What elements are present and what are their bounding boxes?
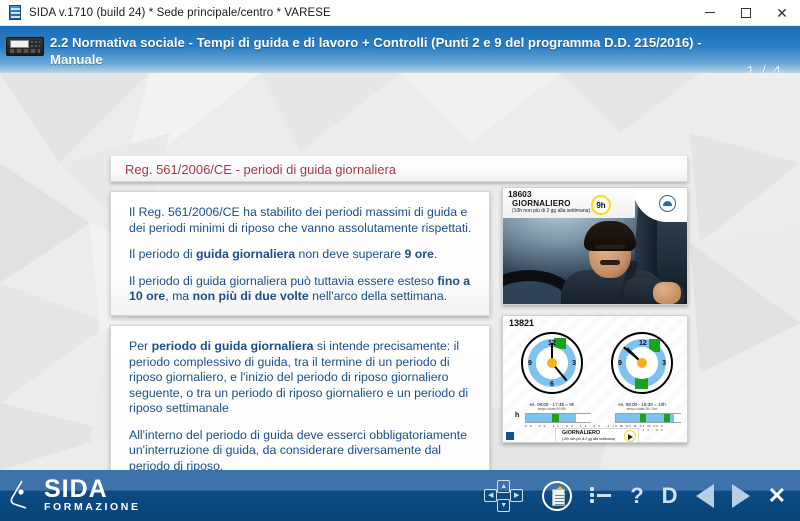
slide-title: Reg. 561/2006/CE - periodi di guida gior…	[125, 162, 396, 177]
paragraph-5: All'interno del periodo di guida deve es…	[129, 428, 473, 471]
navigation-dpad[interactable]: ▲ ◀ ▶ ▼	[484, 480, 524, 512]
photo-label-chip: 18603 GIORNALIERO (10h non più di 2 gg a…	[503, 188, 635, 218]
paragraph-2: Il periodo di guida giornaliera non deve…	[129, 247, 473, 263]
clock-right-caption: es. 08:00 - 19:30 = 10h tempo totale:11h…	[599, 402, 685, 411]
app-icon	[7, 5, 23, 20]
slide-canvas: TACHIGRAFO - MANUALE Reg. 561/2006/CE - …	[0, 73, 800, 470]
window-titlebar: SIDA v.1710 (build 24) * Sede principale…	[0, 0, 800, 26]
clock-figure-number: 13821	[509, 318, 534, 328]
rest-icon: h	[515, 412, 519, 419]
paragraph-3: Il periodo di guida giornaliera può tutt…	[129, 274, 473, 305]
minimize-button[interactable]	[692, 0, 728, 26]
previous-button[interactable]	[696, 484, 714, 508]
clock-label-chip: GIORNALIERO (10h non più di 2 gg alla se…	[555, 428, 639, 442]
paragraph-1: Il Reg. 561/2006/CE ha stabilito dei per…	[129, 205, 473, 236]
arrow-right-icon	[732, 484, 750, 508]
dpad-right-icon[interactable]: ▶	[510, 489, 523, 502]
document-button[interactable]	[542, 481, 572, 511]
window-close-button[interactable]: ✕	[764, 0, 800, 26]
clock-label: GIORNALIERO	[562, 430, 600, 436]
index-list-button[interactable]	[590, 486, 612, 506]
paragraph-4: Per periodo di guida giornaliera si inte…	[129, 339, 473, 417]
clock-left-caption: es. 08:00 - 17:45 = 9h tempo totale:09:4…	[509, 402, 595, 411]
close-button[interactable]: ✕	[768, 485, 786, 507]
clock-sublabel: (10h non più di 2 gg alla settimana)	[562, 437, 615, 441]
image-card-driver[interactable]: 18603 GIORNALIERO (10h non più di 2 gg a…	[502, 187, 688, 305]
photo-number: 18603	[508, 189, 532, 199]
maximize-button[interactable]	[728, 0, 764, 26]
clock-diagram: 13821 12 3 6 9 12 3	[503, 316, 687, 442]
arrow-left-icon	[696, 484, 714, 508]
dpad-left-icon[interactable]: ◀	[484, 489, 497, 502]
logo-sub: FORMAZIONE	[44, 501, 141, 513]
tachograph-disc-icon	[659, 195, 676, 212]
logo-mark-icon	[8, 478, 42, 512]
text-panel-top: Il Reg. 561/2006/CE ha stabilito dei per…	[110, 191, 490, 316]
tachograph-icon	[6, 37, 44, 56]
hours-badge: 9h	[591, 195, 611, 215]
clock-left: 12 3 6 9	[521, 332, 583, 394]
photo-label: GIORNALIERO	[512, 199, 571, 208]
logo-name: SIDA	[44, 477, 141, 501]
text-panel-bottom: Per periodo di guida giornaliera si inte…	[110, 325, 490, 470]
lesson-header: 2.2 Normativa sociale - Tempi di guida e…	[0, 26, 800, 73]
timeline-left	[525, 413, 591, 423]
dpad-down-icon[interactable]: ▼	[497, 499, 510, 512]
footer-toolbar: ▲ ◀ ▶ ▼ ? D ✕	[484, 470, 786, 521]
next-button[interactable]	[732, 484, 750, 508]
clock-right: 12 3 9	[611, 332, 673, 394]
window-controls: ✕	[692, 0, 800, 26]
image-card-clocks[interactable]: 13821 12 3 6 9 12 3	[502, 315, 688, 443]
cursor-badge-icon	[624, 430, 636, 442]
help-button[interactable]: ?	[630, 485, 643, 507]
document-icon	[552, 489, 565, 506]
brand-mark-icon	[506, 432, 514, 440]
timeline-right	[615, 413, 681, 423]
window-title: SIDA v.1710 (build 24) * Sede principale…	[29, 7, 331, 19]
dpad-up-icon[interactable]: ▲	[497, 480, 510, 493]
sida-logo: SIDA FORMAZIONE	[8, 477, 141, 513]
slide-title-card: Reg. 561/2006/CE - periodi di guida gior…	[110, 156, 688, 182]
footer-bar: SIDA FORMAZIONE ▲ ◀ ▶ ▼ ? D ✕	[0, 470, 800, 521]
lesson-title: 2.2 Normativa sociale - Tempi di guida e…	[50, 34, 710, 68]
dictionary-button[interactable]: D	[662, 485, 678, 507]
photo-sublabel: (10h non più di 2 gg alla settimana)	[512, 208, 590, 214]
